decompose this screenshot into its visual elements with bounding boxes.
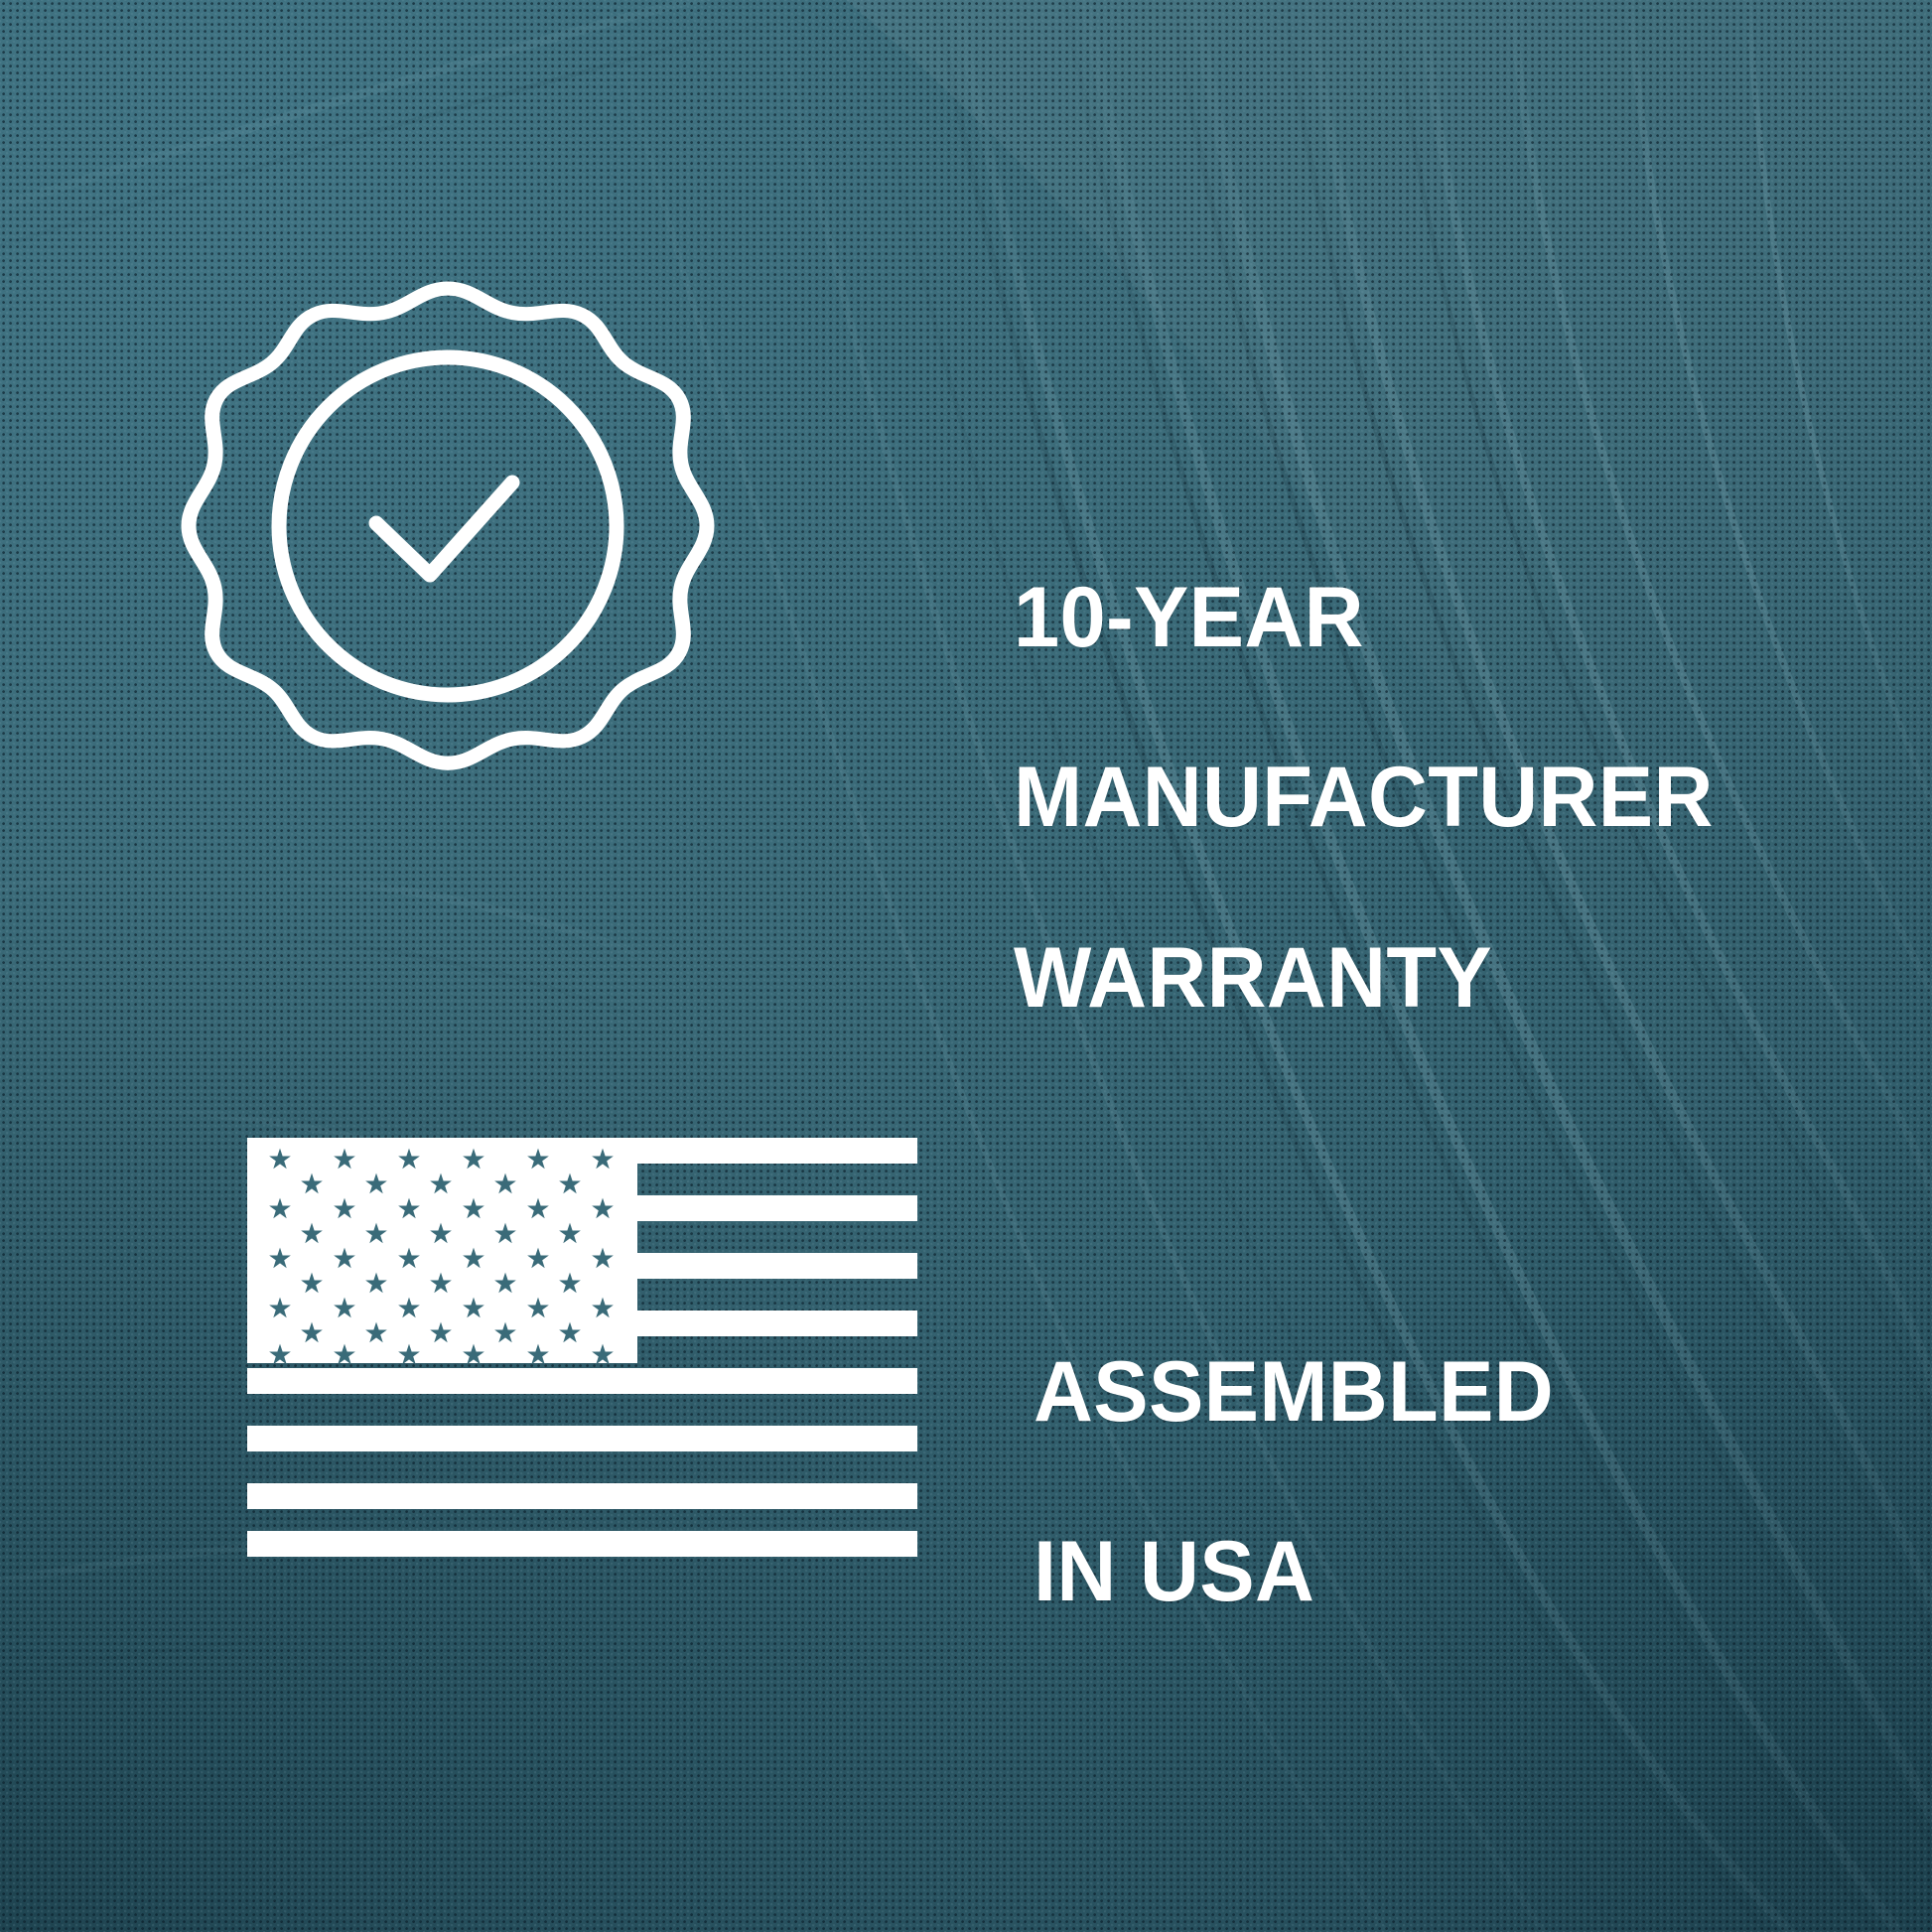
usa-flag-icon <box>247 1138 917 1557</box>
content-layer: 10-YEAR MANUFACTURER WARRANTY <box>0 0 1932 1932</box>
warranty-line-3: WARRANTY <box>1014 933 1714 1024</box>
assembled-line-1: ASSEMBLED <box>1034 1347 1554 1438</box>
feature-graphic-canvas: 10-YEAR MANUFACTURER WARRANTY <box>0 0 1932 1932</box>
verified-badge-check-icon <box>195 279 701 775</box>
flag-long-stripes <box>247 1368 917 1557</box>
flag-canton <box>247 1138 637 1364</box>
warranty-line-1: 10-YEAR <box>1014 573 1714 663</box>
assembled-line-2: IN USA <box>1034 1527 1554 1617</box>
flag-short-stripes <box>637 1138 917 1336</box>
warranty-line-2: MANUFACTURER <box>1014 753 1714 843</box>
assembled-headline: ASSEMBLED IN USA <box>1034 1257 1554 1708</box>
warranty-headline: 10-YEAR MANUFACTURER WARRANTY <box>1014 483 1714 1113</box>
